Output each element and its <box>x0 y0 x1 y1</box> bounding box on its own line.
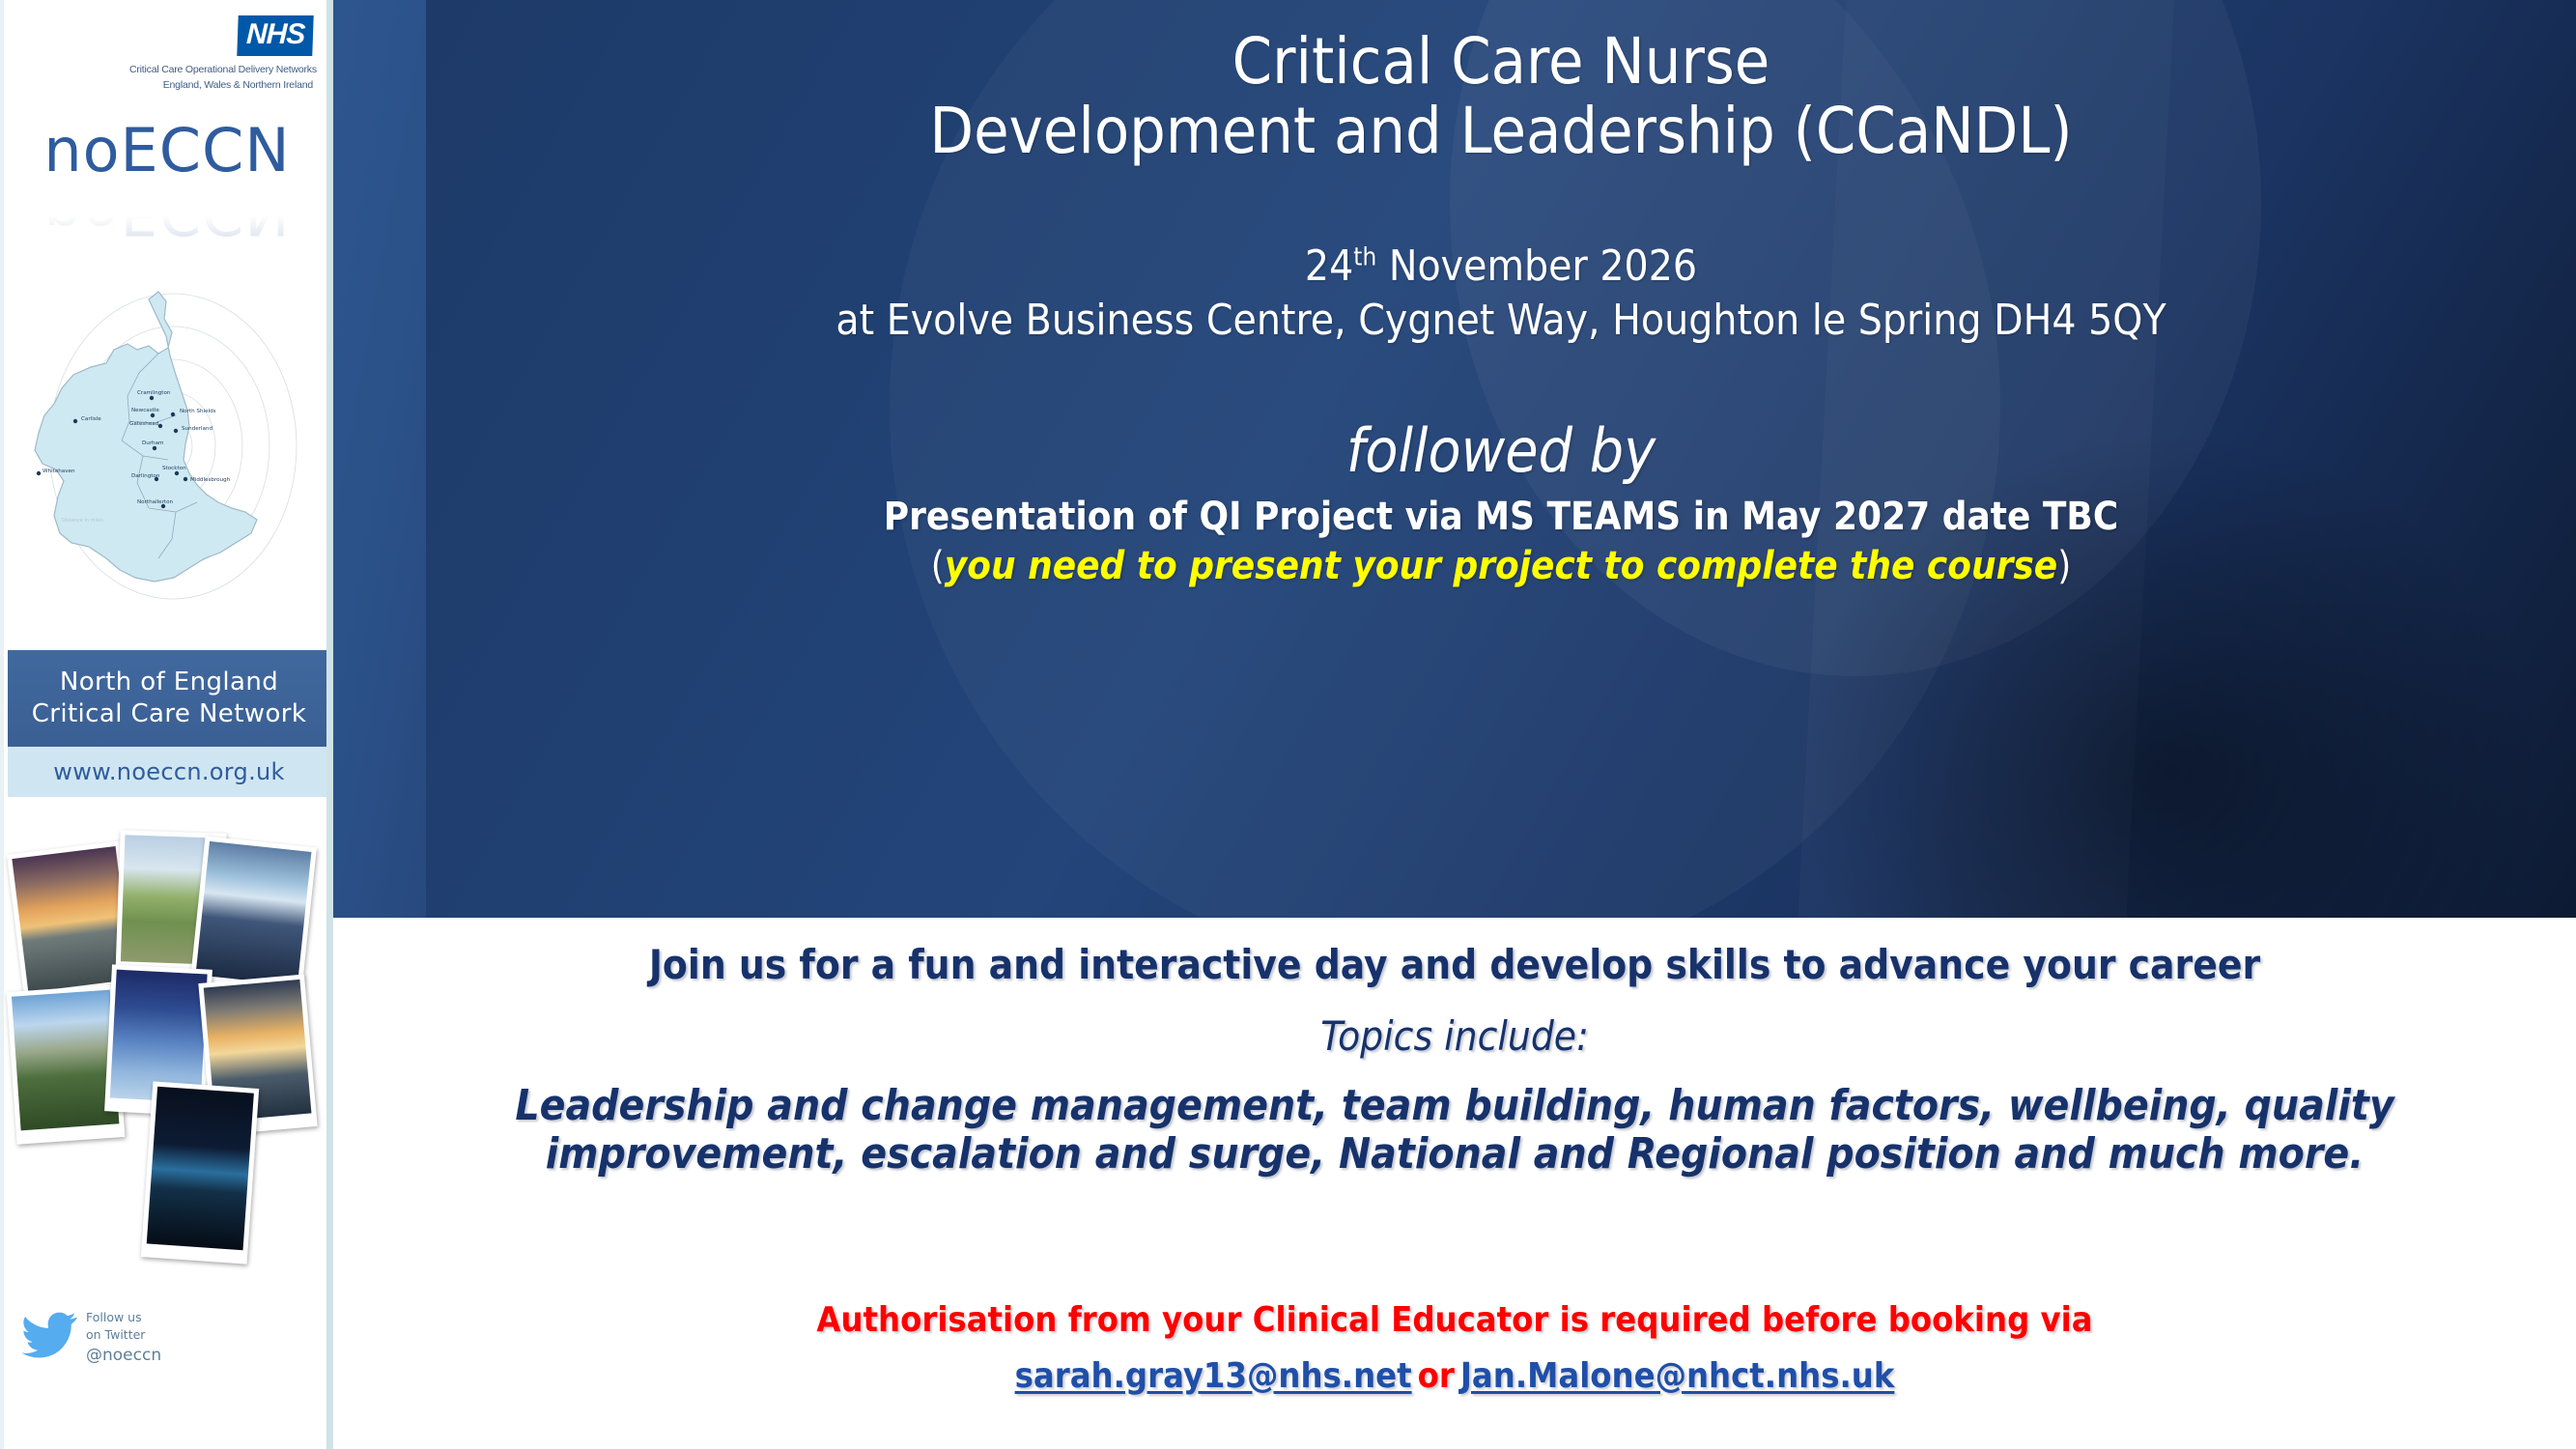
website-url: www.noeccn.org.uk <box>53 758 284 785</box>
photo-tyne-bridges <box>195 841 311 985</box>
twitter-follow-text: Follow us on Twitter @noeccn <box>86 1309 161 1367</box>
left-sidebar: NHS Critical Care Operational Delivery N… <box>0 0 333 1449</box>
collage-photo-transporter-bridge-night <box>141 1081 259 1264</box>
noeccn-wordmark: noECCN <box>4 121 330 181</box>
noeccn-wordmark-reflection: noECCN <box>4 183 330 242</box>
network-nameplate: North of England Critical Care Network <box>8 650 330 747</box>
twitter-handle: @noeccn <box>86 1344 161 1367</box>
svg-text:Newcastle: Newcastle <box>131 408 159 413</box>
note-highlight: you need to present your project to comp… <box>945 544 2057 588</box>
svg-text:Northallerton: Northallerton <box>137 499 174 505</box>
event-title-line1: Critical Care Nurse <box>1232 24 1770 99</box>
twitter-line1: Follow us <box>86 1309 161 1326</box>
twitter-follow-block[interactable]: Follow us on Twitter @noeccn <box>21 1309 161 1367</box>
join-us-heading: Join us for a fun and interactive day an… <box>333 918 2576 987</box>
nhs-subtitle-line2: England, Wales & Northern Ireland <box>129 78 313 94</box>
nhs-subtitle-line1: Critical Care Operational Delivery Netwo… <box>129 63 313 78</box>
accent-stripe <box>333 0 426 918</box>
event-venue: at Evolve Business Centre, Cygnet Way, H… <box>426 294 2576 348</box>
svg-text:Distance in miles: Distance in miles <box>62 518 103 524</box>
svg-text:Darlington: Darlington <box>131 473 160 479</box>
note-paren-close: ) <box>2057 544 2071 588</box>
nhs-subtitle: Critical Care Operational Delivery Netwo… <box>129 63 313 94</box>
presentation-note: (you need to present your project to com… <box>426 544 2576 589</box>
poster-canvas: NHS Critical Care Operational Delivery N… <box>0 0 2576 1449</box>
website-bar[interactable]: www.noeccn.org.uk <box>8 747 330 797</box>
photo-transporter-bridge-night <box>147 1087 254 1251</box>
twitter-line2: on Twitter <box>86 1326 161 1344</box>
map-svg: Carlisle Whitehaven Cramlington Newcastl… <box>14 280 327 613</box>
email-link-sarah-gray[interactable]: sarah.gray13@nhs.net <box>1015 1356 1412 1396</box>
svg-text:Whitehaven: Whitehaven <box>42 469 75 474</box>
north-of-england-map: Carlisle Whitehaven Cramlington Newcastl… <box>14 280 327 613</box>
event-datetime-venue: 24th November 2026 at Evolve Business Ce… <box>426 240 2576 349</box>
twitter-bird-svg <box>21 1312 77 1358</box>
nameplate-line2: Critical Care Network <box>32 698 307 730</box>
svg-text:Gateshead: Gateshead <box>129 421 159 427</box>
authorisation-notice: Authorisation from your Clinical Educato… <box>333 1301 2576 1340</box>
contact-emails: sarah.gray13@nhs.netorJan.Malone@nhct.nh… <box>333 1357 2576 1396</box>
svg-text:North Shields: North Shields <box>180 409 216 414</box>
hero-content: Critical Care Nurse Development and Lead… <box>426 0 2576 918</box>
email-link-jan-malone[interactable]: Jan.Malone@nhct.nhs.uk <box>1460 1356 1895 1396</box>
topics-body: Leadership and change management, team b… <box>333 1082 2576 1178</box>
nhs-logo: NHS Critical Care Operational Delivery N… <box>129 15 313 94</box>
svg-text:Carlisle: Carlisle <box>81 416 101 422</box>
svg-text:Durham: Durham <box>142 440 163 446</box>
svg-text:Cramlington: Cramlington <box>137 390 171 396</box>
event-date-rest: November 2026 <box>1376 241 1697 291</box>
nameplate-line1: North of England <box>60 667 278 698</box>
event-title-line2: Development and Leadership (CCaNDL) <box>426 97 2576 166</box>
event-title: Critical Care Nurse Development and Lead… <box>426 0 2576 166</box>
photo-durham-cathedral <box>12 990 119 1131</box>
hero-banner: Critical Care Nurse Development and Lead… <box>426 0 2576 918</box>
topics-label: Topics include: <box>333 1014 2576 1059</box>
event-date-ordinal: th <box>1353 242 1376 271</box>
nhs-badge: NHS <box>237 15 314 56</box>
followed-by-heading: followed by <box>426 421 2576 481</box>
sidebar-inner-frame: NHS Critical Care Operational Delivery N… <box>0 0 326 1449</box>
twitter-bird-icon <box>21 1312 77 1363</box>
svg-text:Stockton: Stockton <box>162 466 186 471</box>
svg-text:Middlesbrough: Middlesbrough <box>190 477 231 483</box>
noeccn-wordmark-block: noECCN noECCN <box>4 121 330 242</box>
email-separator: or <box>1412 1356 1460 1396</box>
presentation-detail: Presentation of QI Project via MS TEAMS … <box>426 495 2576 540</box>
lower-section: Join us for a fun and interactive day an… <box>333 918 2576 1449</box>
event-date-day: 24 <box>1305 241 1353 291</box>
svg-text:Sunderland: Sunderland <box>182 426 212 432</box>
note-paren-open: ( <box>931 544 945 588</box>
